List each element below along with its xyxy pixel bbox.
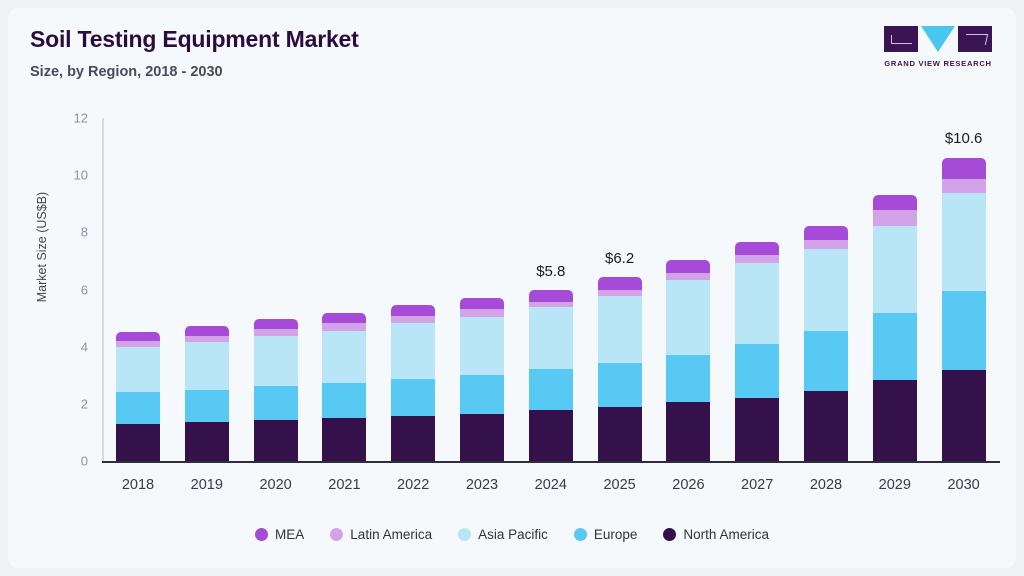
legend-swatch-icon — [458, 528, 471, 541]
bar-segment[interactable] — [873, 313, 917, 380]
x-axis-tick: 2026 — [651, 477, 725, 493]
legend-item-latin-america[interactable]: Latin America — [330, 527, 432, 542]
bar-segment[interactable] — [185, 422, 229, 461]
bar-segment[interactable] — [942, 370, 986, 461]
bar-stack[interactable] — [873, 195, 917, 461]
bar-segment[interactable] — [873, 380, 917, 461]
legend-swatch-icon — [574, 528, 587, 541]
x-axis-tick: 2022 — [376, 477, 450, 493]
legend-item-europe[interactable]: Europe — [574, 527, 638, 542]
bar-segment[interactable] — [322, 313, 366, 323]
legend-item-north-america[interactable]: North America — [663, 527, 769, 542]
bar-segment[interactable] — [735, 398, 779, 461]
bar-segment[interactable] — [460, 309, 504, 317]
bar-segment[interactable] — [598, 363, 642, 407]
bar-value-label: $6.2 — [575, 250, 665, 267]
bar-segment[interactable] — [254, 329, 298, 336]
y-axis-line — [102, 118, 104, 461]
bar-segment[interactable] — [116, 347, 160, 392]
bar-stack[interactable] — [529, 290, 573, 461]
legend-item-asia-pacific[interactable]: Asia Pacific — [458, 527, 548, 542]
legend-swatch-icon — [663, 528, 676, 541]
bar-segment[interactable] — [460, 317, 504, 375]
bar-segment[interactable] — [185, 390, 229, 422]
x-axis-tick: 2021 — [307, 477, 381, 493]
legend-label: MEA — [275, 527, 304, 542]
x-axis-tick: 2025 — [583, 477, 657, 493]
bar-segment[interactable] — [254, 386, 298, 420]
bar-segment[interactable] — [460, 298, 504, 309]
bar-stack[interactable] — [598, 277, 642, 461]
bar-stack[interactable] — [942, 158, 986, 462]
bar-segment[interactable] — [598, 407, 642, 461]
bar-segment[interactable] — [391, 316, 435, 323]
bar-segment[interactable] — [529, 369, 573, 410]
bar-segment[interactable] — [529, 410, 573, 461]
bar-segment[interactable] — [254, 336, 298, 386]
bar-stack[interactable] — [460, 298, 504, 461]
bar-stack[interactable] — [322, 313, 366, 461]
bar-segment[interactable] — [391, 416, 435, 461]
y-axis-tick: 4 — [58, 339, 88, 354]
chart-card: Soil Testing Equipment Market Size, by R… — [8, 8, 1016, 568]
bar-segment[interactable] — [942, 158, 986, 179]
bar-segment[interactable] — [804, 331, 848, 391]
y-axis-tick: 0 — [58, 454, 88, 469]
legend-label: Asia Pacific — [478, 527, 548, 542]
bar-segment[interactable] — [735, 255, 779, 262]
bar-stack[interactable] — [116, 332, 160, 461]
bar-stack[interactable] — [666, 260, 710, 461]
bar-segment[interactable] — [322, 383, 366, 418]
bar-segment[interactable] — [185, 342, 229, 389]
y-axis-tick: 8 — [58, 225, 88, 240]
bar-segment[interactable] — [804, 240, 848, 249]
legend-label: Latin America — [350, 527, 432, 542]
x-axis-tick: 2028 — [789, 477, 863, 493]
x-axis-tick: 2024 — [514, 477, 588, 493]
x-axis-tick: 2023 — [445, 477, 519, 493]
bar-segment[interactable] — [873, 195, 917, 210]
legend-label: North America — [683, 527, 769, 542]
bar-segment[interactable] — [254, 420, 298, 461]
x-axis-tick: 2027 — [720, 477, 794, 493]
bar-segment[interactable] — [804, 249, 848, 331]
legend-item-mea[interactable]: MEA — [255, 527, 304, 542]
chart-legend: MEALatin AmericaAsia PacificEuropeNorth … — [8, 527, 1016, 542]
y-axis-tick: 6 — [58, 282, 88, 297]
chart-plot-area: Market Size (US$B) 024681012 20182019202… — [8, 8, 1016, 568]
bar-segment[interactable] — [804, 226, 848, 240]
bar-segment[interactable] — [735, 344, 779, 398]
bar-stack[interactable] — [391, 305, 435, 461]
legend-swatch-icon — [330, 528, 343, 541]
bar-segment[interactable] — [666, 402, 710, 461]
bar-segment[interactable] — [254, 319, 298, 329]
legend-label: Europe — [594, 527, 638, 542]
bar-segment[interactable] — [391, 379, 435, 417]
bar-segment[interactable] — [598, 277, 642, 290]
x-axis-tick: 2020 — [239, 477, 313, 493]
bar-stack[interactable] — [185, 326, 229, 461]
bar-segment[interactable] — [322, 418, 366, 461]
bar-segment[interactable] — [942, 291, 986, 370]
bar-segment[interactable] — [666, 260, 710, 273]
bar-segment[interactable] — [116, 424, 160, 461]
bar-segment[interactable] — [391, 305, 435, 316]
bar-segment[interactable] — [942, 193, 986, 291]
bar-segment[interactable] — [873, 210, 917, 226]
bar-segment[interactable] — [873, 226, 917, 313]
x-axis-line — [102, 461, 1000, 463]
bar-segment[interactable] — [185, 326, 229, 336]
x-axis-tick: 2030 — [927, 477, 1001, 493]
bar-segment[interactable] — [116, 392, 160, 423]
bar-segment[interactable] — [391, 323, 435, 378]
y-axis-tick: 12 — [58, 111, 88, 126]
bar-segment[interactable] — [598, 296, 642, 363]
bar-segment[interactable] — [666, 355, 710, 402]
bar-stack[interactable] — [735, 242, 779, 462]
bar-segment[interactable] — [942, 179, 986, 193]
bar-segment[interactable] — [322, 323, 366, 330]
bar-segment[interactable] — [529, 307, 573, 369]
y-axis-tick: 2 — [58, 396, 88, 411]
bar-segment[interactable] — [804, 391, 848, 461]
bar-segment[interactable] — [322, 331, 366, 384]
bar-segment[interactable] — [666, 280, 710, 355]
bar-stack[interactable] — [254, 319, 298, 461]
bar-segment[interactable] — [666, 273, 710, 280]
x-axis-tick: 2019 — [170, 477, 244, 493]
bar-stack[interactable] — [804, 226, 848, 461]
y-axis-label: Market Size (US$B) — [35, 157, 49, 337]
bar-segment[interactable] — [529, 290, 573, 302]
bar-segment[interactable] — [460, 414, 504, 461]
bar-segment[interactable] — [460, 375, 504, 414]
bar-segment[interactable] — [116, 332, 160, 341]
bar-segment[interactable] — [735, 263, 779, 344]
y-axis-tick: 10 — [58, 168, 88, 183]
bar-segment[interactable] — [735, 242, 779, 256]
legend-swatch-icon — [255, 528, 268, 541]
bar-value-label: $10.6 — [919, 130, 1009, 147]
x-axis-tick: 2029 — [858, 477, 932, 493]
x-axis-tick: 2018 — [101, 477, 175, 493]
